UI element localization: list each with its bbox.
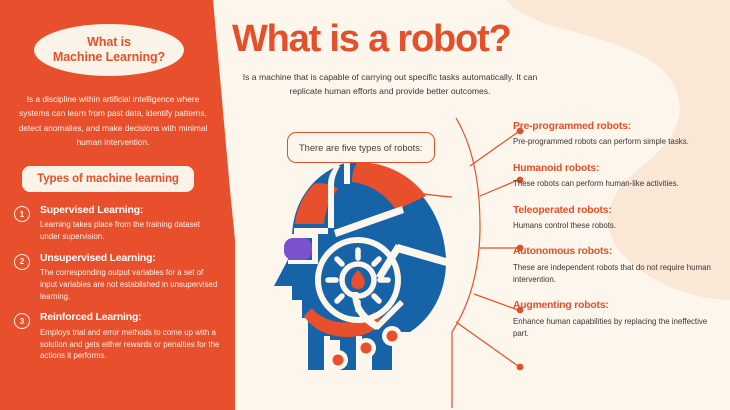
- callout-label: There are five types of robots:: [299, 143, 423, 153]
- list-item-title: Reinforced Learning:: [40, 312, 222, 324]
- robot-type-body: Humans control these robots.: [513, 220, 723, 232]
- callout-five-types: There are five types of robots:: [287, 132, 435, 163]
- robot-type-body: Enhance human capabilities by replacing …: [513, 316, 723, 340]
- robot-type-title: Humanoid robots:: [513, 163, 723, 174]
- list-item-number: 2: [14, 254, 30, 270]
- list-item-title: Supervised Learning:: [40, 205, 222, 217]
- heading-line-2: Machine Learning?: [53, 50, 165, 64]
- list-item-body: Learning takes place from the training d…: [40, 219, 222, 242]
- list-item-number: 3: [14, 313, 30, 329]
- robot-type-body: These are independent robots that do not…: [513, 262, 723, 286]
- list-item-number: 1: [14, 206, 30, 222]
- robot-type-title: Teleoperated robots:: [513, 205, 723, 216]
- page-description: Is a machine that is capable of carrying…: [240, 71, 540, 99]
- robot-type-title: Augmenting robots:: [513, 300, 723, 311]
- robot-type-body: Pre-programmed robots can perform simple…: [513, 136, 723, 148]
- machine-learning-heading-pill: What is Machine Learning?: [34, 24, 184, 76]
- types-of-machine-learning-pill: Types of machine learning: [22, 166, 194, 192]
- robot-type-title: Pre-programmed robots:: [513, 121, 723, 132]
- list-item-title: Unsupervised Learning:: [40, 253, 222, 265]
- list-item-body: The corresponding output variables for a…: [40, 267, 222, 302]
- robot-type-body: These robots can perform human-like acti…: [513, 178, 723, 190]
- heading-line-1: What is: [87, 35, 131, 49]
- list-item: Pre-programmed robots: Pre-programmed ro…: [513, 121, 723, 148]
- list-item: Teleoperated robots: Humans control thes…: [513, 205, 723, 232]
- list-item: 2 Unsupervised Learning: The correspondi…: [14, 253, 222, 303]
- machine-learning-description: Is a discipline within artificial intell…: [12, 92, 214, 149]
- infographic-canvas: What is Machine Learning? Is a disciplin…: [0, 0, 730, 410]
- robot-types-list: Pre-programmed robots: Pre-programmed ro…: [513, 121, 723, 354]
- types-pill-label: Types of machine learning: [37, 173, 179, 185]
- list-item-body: Employs trial and error methods to come …: [40, 327, 222, 362]
- robot-type-title: Autonomous robots:: [513, 246, 723, 257]
- machine-learning-types-list: 1 Supervised Learning: Learning takes pl…: [14, 205, 222, 372]
- page-title: What is a robot?: [232, 20, 552, 58]
- list-item: 1 Supervised Learning: Learning takes pl…: [14, 205, 222, 243]
- machine-learning-heading: What is Machine Learning?: [53, 35, 165, 66]
- list-item: Autonomous robots: These are independent…: [513, 246, 723, 285]
- left-panel-content: What is Machine Learning? Is a disciplin…: [0, 0, 236, 410]
- list-item: Augmenting robots: Enhance human capabil…: [513, 300, 723, 339]
- list-item: 3 Reinforced Learning: Employs trial and…: [14, 312, 222, 362]
- list-item: Humanoid robots: These robots can perfor…: [513, 163, 723, 190]
